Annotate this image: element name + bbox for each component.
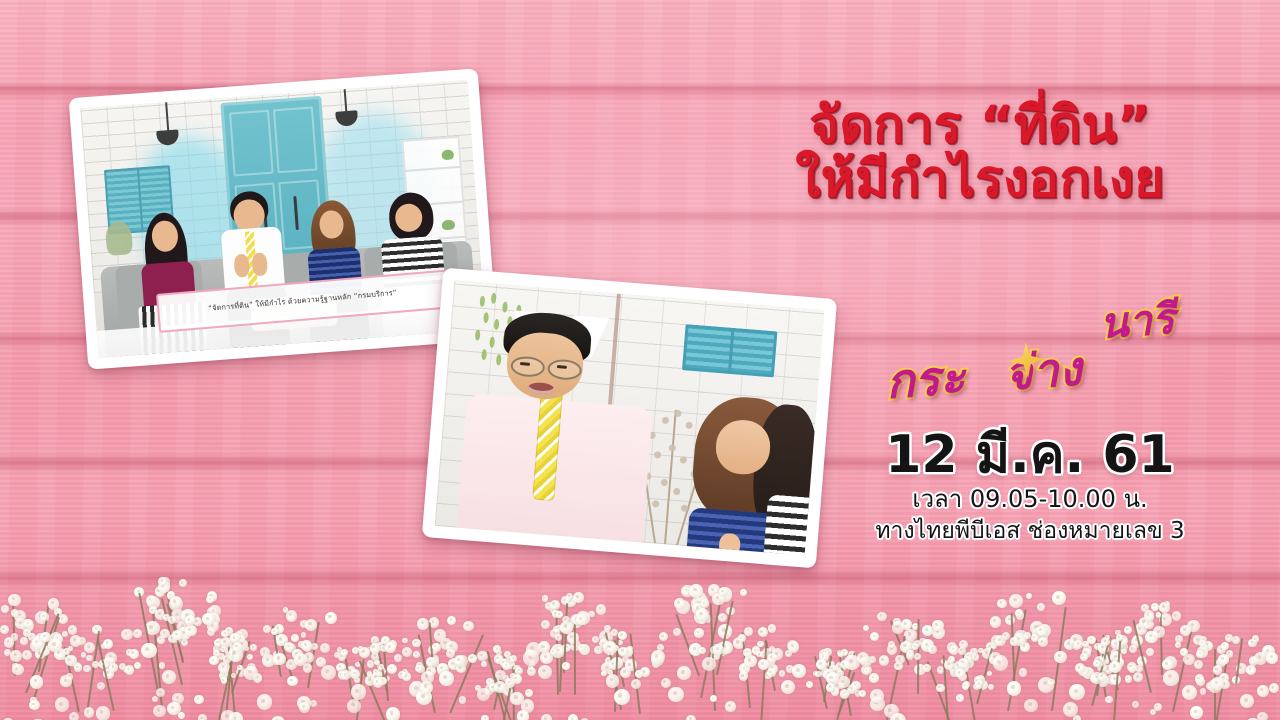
photo-caption-text: “จัดการที่ดิน” ให้มีกำไร ด้วยความรู้ฐานห… [208,287,397,314]
logo-bottom-right: จ่าง [1003,342,1084,402]
blue-window-shutter [682,324,778,378]
interview-host [678,393,824,555]
broadcast-channel: ทางไทยพีบีเอส ช่องหมายเลข 3 [850,517,1210,545]
headline-line-2: ให้มีกำไรงอกเงย [700,154,1260,206]
logo-top-word: นารี [1097,286,1176,357]
logo-bottom-left: กระ [884,350,967,410]
photo-card-closeup[interactable] [422,268,837,569]
interview-guest [457,307,660,547]
broadcast-date: 12 มี.ค. 61 [850,428,1210,483]
program-logo[interactable]: นารี กระจ่าง [877,286,1184,411]
broadcast-time: เวลา 09.05-10.00 น. [850,485,1210,514]
schedule-block: 12 มี.ค. 61 เวลา 09.05-10.00 น. ทางไทยพี… [850,428,1210,545]
logo-bottom-word: กระจ่าง [883,331,1084,419]
headline: จัดการ “ที่ดิน” ให้มีกำไรงอกเงย [700,100,1260,206]
photo-card-talkshow[interactable]: “จัดการที่ดิน” ให้มีกำไร ด้วยความรู้ฐานห… [69,68,498,369]
headline-line-1: จัดการ “ที่ดิน” [700,100,1260,152]
shelf-plant [441,149,454,160]
photo-1-image: “จัดการที่ดิน” ให้มีกำไร ด้วยความรู้ฐานห… [80,80,485,358]
promo-poster: “จัดการที่ดิน” ให้มีกำไร ด้วยความรู้ฐานห… [0,0,1280,720]
photo-2-image [435,281,825,556]
